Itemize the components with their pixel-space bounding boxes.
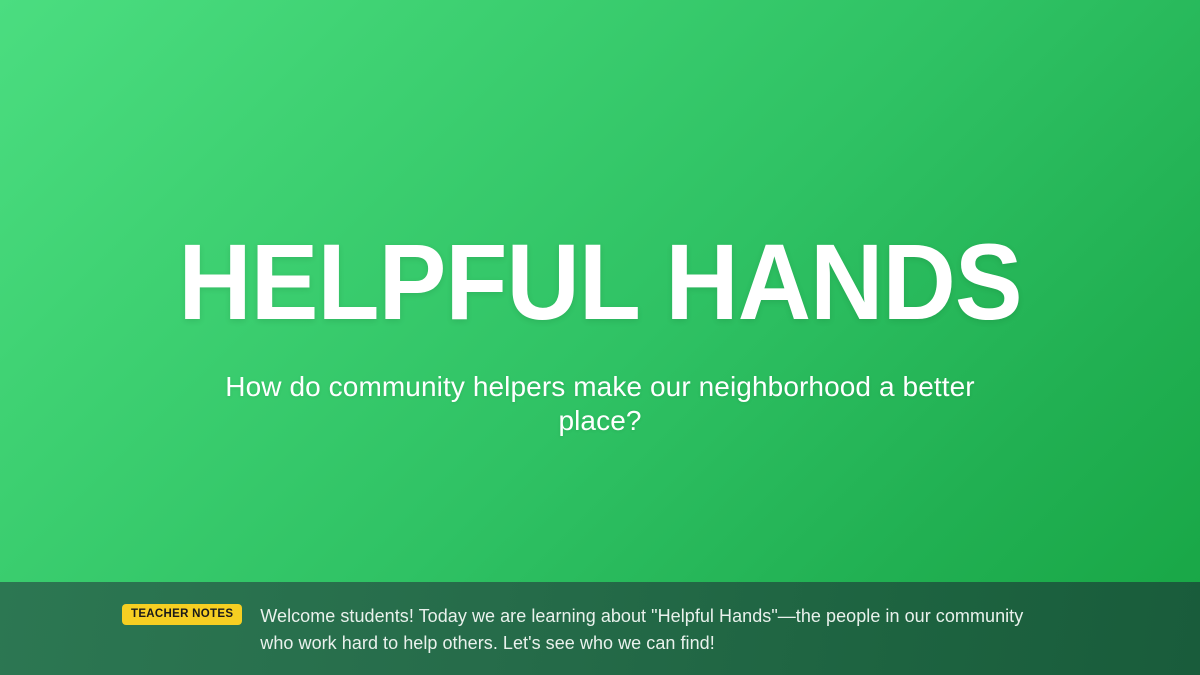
teacher-notes-bar: Teacher Notes Welcome students! Today we… [0,582,1200,675]
teacher-notes-text: Welcome students! Today we are learning … [260,603,1035,658]
slide-content-area: Helpful Hands How do community helpers m… [0,0,1200,582]
status-badge: Teacher Notes [122,604,242,625]
page-title: Helpful Hands [36,232,1164,331]
slide-subtitle: How do community helpers make our neighb… [220,370,980,438]
slide: Helpful Hands How do community helpers m… [0,0,1200,675]
